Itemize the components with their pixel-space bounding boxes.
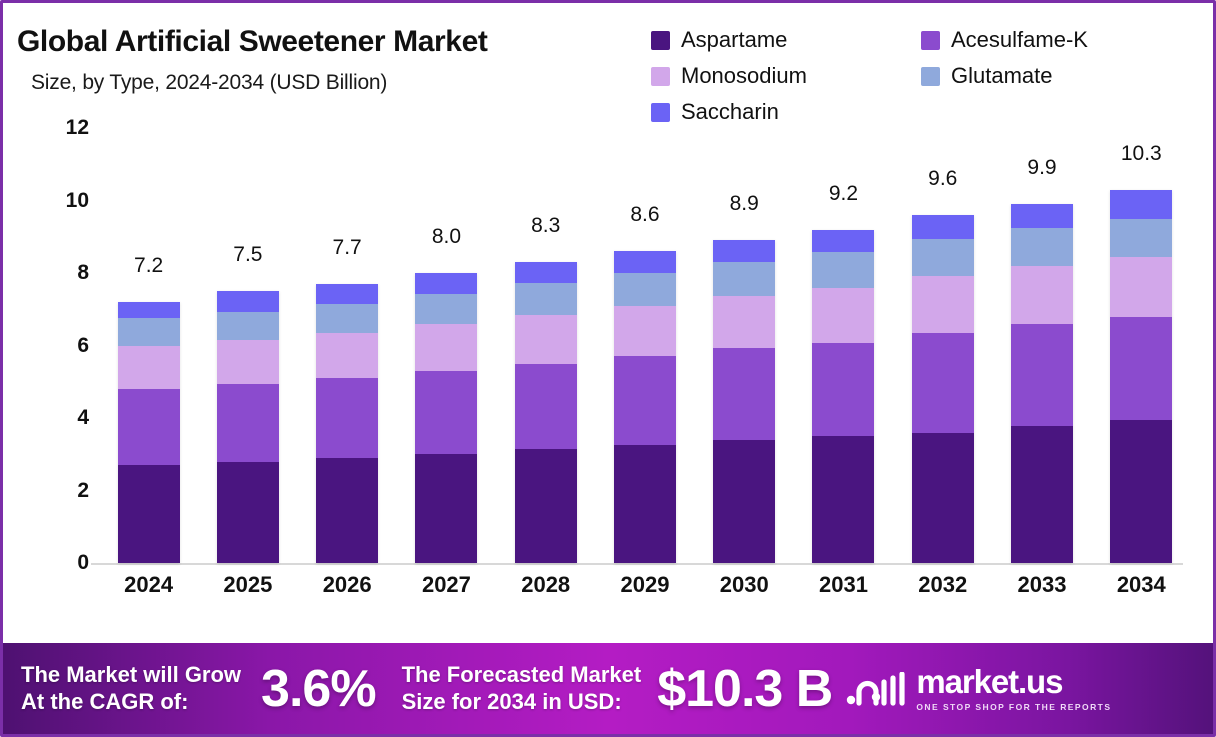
bar-stack[interactable]: [912, 215, 974, 563]
bar-column-2032[interactable]: 9.6: [893, 128, 992, 563]
bar-stack[interactable]: [515, 262, 577, 563]
legend-item-aspartame[interactable]: Aspartame: [651, 27, 921, 53]
bar-column-2033[interactable]: 9.9: [992, 128, 1091, 563]
bar-column-2029[interactable]: 8.6: [595, 128, 694, 563]
y-axis-tick-label: 4: [77, 406, 89, 430]
forecast-label-line1: The Forecasted Market: [402, 662, 642, 689]
bar-stack[interactable]: [118, 302, 180, 563]
legend-item-label: Saccharin: [681, 99, 779, 125]
chart-subtitle: Size, by Type, 2024-2034 (USD Billion): [31, 71, 487, 95]
bar-column-2025[interactable]: 7.5: [198, 128, 297, 563]
bar-group: 7.27.57.78.08.38.68.99.29.69.910.3: [99, 128, 1191, 563]
bar-segment-aspartame[interactable]: [316, 458, 378, 563]
bar-segment-acesulfame-k[interactable]: [713, 348, 775, 439]
bar-segment-aspartame[interactable]: [713, 440, 775, 563]
bar-segment-saccharin[interactable]: [713, 240, 775, 262]
bar-segment-monosodium[interactable]: [118, 346, 180, 390]
y-axis-tick-label: 10: [66, 189, 89, 213]
bar-segment-glutamate[interactable]: [713, 262, 775, 296]
bar-stack[interactable]: [713, 240, 775, 563]
bar-segment-monosodium[interactable]: [316, 333, 378, 378]
plot-area: 024681012 7.27.57.78.08.38.68.99.29.69.9…: [3, 128, 1213, 618]
title-block: Global Artificial Sweetener Market Size,…: [17, 25, 487, 95]
bar-segment-saccharin[interactable]: [812, 230, 874, 253]
bar-segment-acesulfame-k[interactable]: [1110, 317, 1172, 420]
bar-segment-aspartame[interactable]: [812, 436, 874, 563]
y-axis-tick-label: 8: [77, 261, 89, 285]
y-axis-tick-label: 6: [77, 334, 89, 358]
bar-segment-saccharin[interactable]: [912, 215, 974, 239]
bar-stack[interactable]: [1110, 190, 1172, 563]
forecast-value: $10.3 B: [657, 659, 832, 719]
legend-item-acesulfame-k[interactable]: Acesulfame-K: [921, 27, 1191, 53]
bar-segment-glutamate[interactable]: [1011, 228, 1073, 265]
chart-legend: AspartameAcesulfame-KMonosodiumGlutamate…: [651, 27, 1191, 125]
x-axis-tick-label: 2034: [1092, 572, 1191, 598]
logo-name: market.us: [916, 665, 1111, 698]
bar-segment-monosodium[interactable]: [713, 296, 775, 349]
legend-item-saccharin[interactable]: Saccharin: [651, 99, 921, 125]
bar-segment-acesulfame-k[interactable]: [812, 343, 874, 437]
legend-swatch-icon: [921, 31, 940, 50]
legend-swatch-icon: [921, 67, 940, 86]
x-axis-tick-label: 2027: [397, 572, 496, 598]
bar-segment-acesulfame-k[interactable]: [217, 384, 279, 462]
bar-column-2031[interactable]: 9.2: [794, 128, 893, 563]
bar-segment-glutamate[interactable]: [118, 318, 180, 345]
bar-total-label: 9.9: [1027, 156, 1056, 180]
x-axis-tick-label: 2032: [893, 572, 992, 598]
cagr-label-line1: The Market will Grow: [21, 662, 241, 689]
bar-segment-aspartame[interactable]: [415, 454, 477, 563]
logo-text-block: market.us ONE STOP SHOP FOR THE REPORTS: [916, 665, 1111, 712]
x-axis-tick-label: 2026: [298, 572, 397, 598]
bar-segment-acesulfame-k[interactable]: [1011, 324, 1073, 426]
bar-stack[interactable]: [614, 251, 676, 563]
bar-segment-acesulfame-k[interactable]: [415, 371, 477, 454]
x-axis-tick-label: 2030: [695, 572, 794, 598]
bar-column-2034[interactable]: 10.3: [1092, 128, 1191, 563]
bar-segment-glutamate[interactable]: [614, 273, 676, 306]
bar-segment-saccharin[interactable]: [415, 273, 477, 294]
x-axis: 2024202520262027202820292030203120322033…: [99, 572, 1191, 598]
x-axis-tick-label: 2028: [496, 572, 595, 598]
bar-segment-monosodium[interactable]: [1110, 257, 1172, 317]
legend-item-label: Aspartame: [681, 27, 787, 53]
bar-segment-saccharin[interactable]: [118, 302, 180, 318]
bar-total-label: 8.0: [432, 225, 461, 249]
bar-segment-glutamate[interactable]: [812, 252, 874, 287]
bar-stack[interactable]: [316, 284, 378, 563]
bar-segment-glutamate[interactable]: [316, 304, 378, 333]
bar-segment-acesulfame-k[interactable]: [515, 364, 577, 449]
bar-segment-glutamate[interactable]: [217, 312, 279, 340]
bar-segment-aspartame[interactable]: [118, 465, 180, 563]
bar-segment-saccharin[interactable]: [1011, 204, 1073, 228]
legend-swatch-icon: [651, 103, 670, 122]
footer-banner: The Market will Grow At the CAGR of: 3.6…: [3, 643, 1213, 734]
bar-segment-aspartame[interactable]: [1011, 426, 1073, 563]
bar-stack[interactable]: [1011, 204, 1073, 563]
cagr-value: 3.6%: [261, 659, 376, 719]
legend-item-label: Monosodium: [681, 63, 807, 89]
bar-total-label: 10.3: [1121, 142, 1162, 166]
bar-segment-glutamate[interactable]: [912, 239, 974, 275]
bar-total-label: 8.3: [531, 214, 560, 238]
y-axis-tick-label: 0: [77, 551, 89, 575]
legend-item-glutamate[interactable]: Glutamate: [921, 63, 1191, 89]
y-axis-tick-label: 2: [77, 479, 89, 503]
bar-segment-acesulfame-k[interactable]: [118, 389, 180, 465]
bar-segment-monosodium[interactable]: [217, 340, 279, 384]
cagr-label: The Market will Grow At the CAGR of:: [21, 662, 241, 716]
bar-segment-saccharin[interactable]: [515, 262, 577, 283]
bar-total-label: 8.6: [630, 203, 659, 227]
y-axis: 024681012: [3, 128, 99, 568]
x-axis-tick-label: 2025: [198, 572, 297, 598]
bar-segment-aspartame[interactable]: [614, 445, 676, 563]
bar-segment-saccharin[interactable]: [1110, 190, 1172, 219]
bar-total-label: 7.2: [134, 254, 163, 278]
bar-segment-aspartame[interactable]: [217, 462, 279, 564]
bar-stack[interactable]: [812, 230, 874, 563]
bar-segment-aspartame[interactable]: [912, 433, 974, 564]
page-title: Global Artificial Sweetener Market: [17, 25, 487, 59]
bar-segment-monosodium[interactable]: [1011, 266, 1073, 325]
bar-segment-monosodium[interactable]: [912, 276, 974, 333]
bar-segment-monosodium[interactable]: [614, 306, 676, 357]
bar-stack[interactable]: [415, 273, 477, 563]
bar-segment-saccharin[interactable]: [316, 284, 378, 304]
infographic-root: Global Artificial Sweetener Market Size,…: [0, 0, 1216, 737]
market-us-logo[interactable]: market.us ONE STOP SHOP FOR THE REPORTS: [846, 665, 1111, 712]
bar-segment-aspartame[interactable]: [1110, 420, 1172, 563]
x-axis-tick-label: 2031: [794, 572, 893, 598]
bar-column-2024[interactable]: 7.2: [99, 128, 198, 563]
bar-column-2030[interactable]: 8.9: [695, 128, 794, 563]
bar-segment-acesulfame-k[interactable]: [614, 356, 676, 445]
bar-segment-saccharin[interactable]: [614, 251, 676, 273]
legend-item-label: Glutamate: [951, 63, 1053, 89]
bar-segment-glutamate[interactable]: [1110, 219, 1172, 257]
bar-total-label: 8.9: [730, 192, 759, 216]
market-us-mark-icon: [846, 672, 906, 706]
bar-segment-monosodium[interactable]: [812, 288, 874, 343]
bar-segment-acesulfame-k[interactable]: [316, 378, 378, 458]
bar-column-2027[interactable]: 8.0: [397, 128, 496, 563]
x-axis-tick-label: 2029: [595, 572, 694, 598]
bar-stack[interactable]: [217, 291, 279, 563]
y-axis-tick-label: 12: [66, 116, 89, 140]
bar-segment-aspartame[interactable]: [515, 449, 577, 563]
x-axis-tick-label: 2024: [99, 572, 198, 598]
legend-item-monosodium[interactable]: Monosodium: [651, 63, 921, 89]
legend-swatch-icon: [651, 31, 670, 50]
bar-column-2028[interactable]: 8.3: [496, 128, 595, 563]
bar-total-label: 7.5: [233, 243, 262, 267]
bar-segment-saccharin[interactable]: [217, 291, 279, 312]
forecast-label: The Forecasted Market Size for 2034 in U…: [402, 662, 642, 716]
cagr-label-line2: At the CAGR of:: [21, 689, 241, 716]
bar-segment-glutamate[interactable]: [415, 294, 477, 324]
legend-item-label: Acesulfame-K: [951, 27, 1088, 53]
logo-tagline: ONE STOP SHOP FOR THE REPORTS: [916, 702, 1111, 712]
bar-column-2026[interactable]: 7.7: [298, 128, 397, 563]
chart-header: Global Artificial Sweetener Market Size,…: [3, 3, 1213, 128]
bar-total-label: 7.7: [333, 236, 362, 260]
bar-segment-monosodium[interactable]: [415, 324, 477, 371]
x-axis-tick-label: 2033: [992, 572, 1091, 598]
bar-total-label: 9.2: [829, 182, 858, 206]
bar-segment-monosodium[interactable]: [515, 315, 577, 364]
axis-baseline: [91, 563, 1183, 565]
bar-total-label: 9.6: [928, 167, 957, 191]
legend-swatch-icon: [651, 67, 670, 86]
bar-segment-glutamate[interactable]: [515, 283, 577, 315]
forecast-label-line2: Size for 2034 in USD:: [402, 689, 642, 716]
bar-segment-acesulfame-k[interactable]: [912, 333, 974, 433]
